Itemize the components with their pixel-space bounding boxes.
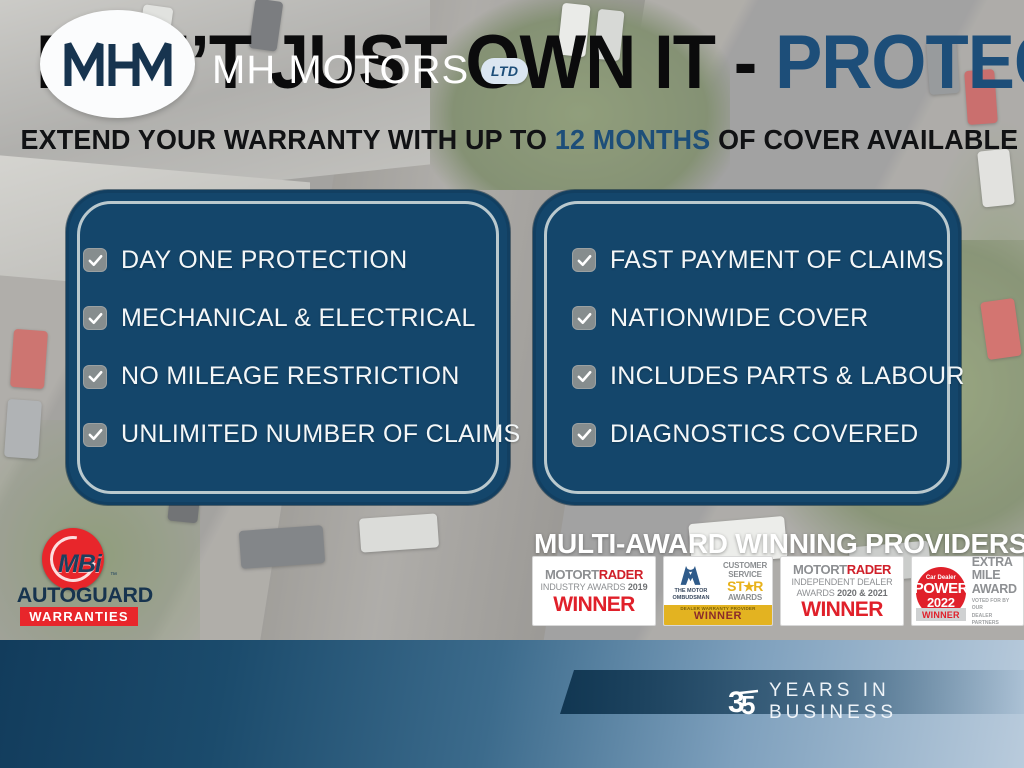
award-brand: MOTORTRADER xyxy=(537,568,651,581)
car-dealer-power-block: Car Dealer POWER 2022 WINNER xyxy=(912,557,970,625)
autoguard-name: AUTOGUARD xyxy=(17,584,141,608)
feature-label: UNLIMITED NUMBER OF CLAIMS xyxy=(121,420,521,449)
footer-brand: MH MOTORS LTD xyxy=(212,48,528,93)
motor-ombudsman-icon xyxy=(677,563,704,587)
headline-part-two: PROTECT IT xyxy=(775,20,1024,105)
motor-ombudsman-block: THE MOTOR OMBUDSMAN xyxy=(664,557,718,605)
mbi-autoguard-logo: MBi ™ AUTOGUARD WARRANTIES xyxy=(18,528,140,626)
feature-item: MECHANICAL & ELECTRICAL xyxy=(69,304,507,333)
award-badge-car-dealer-power-2022: Car Dealer POWER 2022 WINNER EXTRA MILE … xyxy=(911,556,1024,626)
feature-item: NATIONWIDE COVER xyxy=(536,304,958,333)
award-result: WINNER xyxy=(922,610,960,620)
award-badge-top: THE MOTOR OMBUDSMAN CUSTOMER SERVICE ST★… xyxy=(664,557,772,605)
feature-label: NO MILEAGE RESTRICTION xyxy=(121,362,460,391)
feature-item: UNLIMITED NUMBER OF CLAIMS xyxy=(69,420,507,449)
mhm-logo-mark xyxy=(40,10,195,118)
mbi-wordmark: MBi xyxy=(58,552,101,577)
check-icon xyxy=(572,423,596,447)
trademark-symbol: ™ xyxy=(110,572,117,579)
extra-mile-subtitle-one: VOTED FOR BY OUR xyxy=(972,598,1020,611)
award-badge-customer-service-star: THE MOTOR OMBUDSMAN CUSTOMER SERVICE ST★… xyxy=(663,556,773,626)
extra-mile-line-three: AWARD xyxy=(972,583,1020,597)
check-icon xyxy=(572,248,596,272)
award-subtitle: INDUSTRY AWARDS 2019 xyxy=(537,582,651,592)
feature-label: INCLUDES PARTS & LABOUR xyxy=(610,362,965,391)
extra-mile-line-one: EXTRA xyxy=(972,556,1020,569)
feature-item: INCLUDES PARTS & LABOUR xyxy=(536,362,958,391)
check-icon xyxy=(83,423,107,447)
ltd-label: LTD xyxy=(491,63,519,79)
award-name: POWER xyxy=(914,581,968,596)
ltd-badge: LTD xyxy=(481,58,528,84)
check-icon xyxy=(572,306,596,330)
feature-panel-left: DAY ONE PROTECTION MECHANICAL & ELECTRIC… xyxy=(66,190,510,505)
check-icon xyxy=(83,306,107,330)
feature-label: DAY ONE PROTECTION xyxy=(121,246,407,275)
extra-mile-award-block: EXTRA MILE AWARD VOTED FOR BY OUR DEALER… xyxy=(970,557,1023,625)
motor-ombudsman-caption: THE MOTOR OMBUDSMAN xyxy=(664,588,718,602)
subheadline: EXTEND YOUR WARRANTY WITH UP TO 12 MONTH… xyxy=(20,124,1003,156)
extra-mile-line-two: MILE xyxy=(972,569,1020,583)
check-icon xyxy=(83,248,107,272)
feature-label: NATIONWIDE COVER xyxy=(610,304,869,333)
years-label: YEARS IN BUSINESS xyxy=(769,680,1024,724)
company-name: MH MOTORS xyxy=(212,48,469,93)
feature-list-left: DAY ONE PROTECTION MECHANICAL & ELECTRIC… xyxy=(69,193,507,502)
awards-row: MOTORTRADER INDUSTRY AWARDS 2019 WINNER … xyxy=(532,556,1024,626)
feature-panel-right: FAST PAYMENT OF CLAIMS NATIONWIDE COVER … xyxy=(533,190,961,505)
award-badge-motortrader-2019: MOTORTRADER INDUSTRY AWARDS 2019 WINNER xyxy=(532,556,656,626)
award-badge-motortrader-2020-2021: MOTORTRADER INDEPENDENT DEALER AWARDS 20… xyxy=(780,556,904,626)
subheadline-highlight: 12 MONTHS xyxy=(555,124,711,155)
feature-item: DIAGNOSTICS COVERED xyxy=(536,420,958,449)
thirty-five-glyph-icon: 3 5 xyxy=(728,686,764,718)
award-brand: MOTORTRADER xyxy=(785,563,899,576)
svg-text:5: 5 xyxy=(741,690,755,718)
headline-dash: - xyxy=(734,20,757,105)
award-ribbon-result: WINNER xyxy=(694,611,742,623)
feature-label: DIAGNOSTICS COVERED xyxy=(610,420,919,449)
award-line-awards: AWARDS xyxy=(728,594,762,603)
subheadline-suffix: OF COVER AVAILABLE xyxy=(718,124,1018,155)
check-icon xyxy=(572,365,596,389)
award-ribbon: DEALER WARRANTY PROVIDER WINNER xyxy=(664,605,772,625)
subheadline-prefix: EXTEND YOUR WARRANTY WITH UP TO xyxy=(20,124,547,155)
years-in-business: 3 5 YEARS IN BUSINESS xyxy=(728,680,1024,724)
feature-item: NO MILEAGE RESTRICTION xyxy=(69,362,507,391)
years-number-icon: 3 5 xyxy=(728,686,764,718)
feature-label: MECHANICAL & ELECTRICAL xyxy=(121,304,476,333)
feature-item: DAY ONE PROTECTION xyxy=(69,246,507,275)
feature-label: FAST PAYMENT OF CLAIMS xyxy=(610,246,944,275)
warranties-label: WARRANTIES xyxy=(29,609,128,624)
award-ribbon: WINNER xyxy=(916,608,966,621)
award-subtitle: INDEPENDENT DEALER xyxy=(785,577,899,587)
customer-service-award-block: CUSTOMER SERVICE ST★R AWARDS xyxy=(718,557,772,605)
feature-list-right: FAST PAYMENT OF CLAIMS NATIONWIDE COVER … xyxy=(536,193,958,502)
warranties-banner: WARRANTIES xyxy=(20,607,138,626)
mhm-monogram-icon xyxy=(62,36,174,92)
award-year-line: AWARDS 2020 & 2021 xyxy=(785,588,899,598)
extra-mile-subtitle-two: DEALER PARTNERS xyxy=(972,613,1020,626)
award-line-star: ST★R xyxy=(727,579,763,594)
award-result: WINNER xyxy=(537,594,651,615)
feature-item: FAST PAYMENT OF CLAIMS xyxy=(536,246,958,275)
award-result: WINNER xyxy=(785,599,899,620)
check-icon xyxy=(83,365,107,389)
